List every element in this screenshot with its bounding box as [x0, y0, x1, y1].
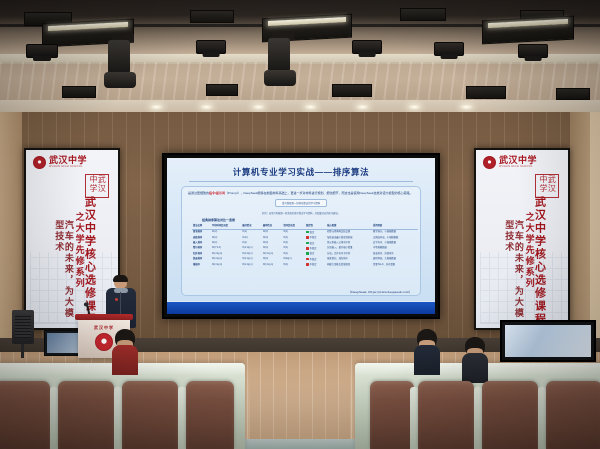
stage-light-fixture	[332, 84, 372, 97]
main-led-screen: 计算机专业学习实战——排序算法 是通过更细致的指令/提示词（Prompt），De…	[162, 153, 440, 319]
status-dot-unstable	[306, 263, 309, 266]
prompt-chip: 请为我规划一份排序算法的学习资料	[275, 199, 327, 207]
ceiling-downlight	[150, 104, 163, 110]
source-citation: （DeepSeek, https://www.deepseek.com）	[348, 290, 412, 294]
seat-divider	[538, 387, 546, 449]
assistant-note: 好的！这里为你梳理一份系统的排序算法学习资料，并配套对应的练习建议。	[188, 211, 414, 215]
cell-best: O(n log n)	[241, 262, 262, 267]
par-can-light	[352, 40, 382, 54]
par-can-light	[26, 44, 58, 58]
windows-taskbar[interactable]	[167, 301, 435, 314]
school-logo-en: WUHAN HIGH SCHOOL	[499, 166, 537, 169]
stability-label: 不稳定	[310, 248, 317, 250]
ceiling-downlight	[252, 104, 265, 110]
presenter-badge	[115, 298, 118, 301]
stability-label: 不稳定	[310, 237, 317, 239]
seat-divider	[410, 387, 418, 449]
ceiling-downlight	[460, 104, 473, 110]
ceiling-downlight	[304, 104, 317, 110]
moving-head-light	[108, 40, 130, 74]
slide-paragraph: 是通过更细致的指令/提示词（Prompt），DeepSeek能够在前面材料基础上…	[188, 191, 414, 196]
algorithm-comparison-table: 算法名称 平均时间复杂度 最好情况 最坏情况 空间复杂度 稳定性 核心思想 适用…	[192, 224, 418, 267]
audience-member	[414, 329, 440, 373]
school-logo-en: WUHAN HIGH SCHOOL	[49, 166, 87, 169]
par-can-light	[518, 44, 548, 58]
school-seal-icon	[33, 156, 46, 169]
cell-idea: 构建大顶堆反复取堆顶	[326, 262, 372, 267]
paragraph-after: （Prompt），DeepSeek能够在前面材料基础上，更进一步对材料进行规划、…	[225, 191, 413, 195]
stability-label: 不稳定	[310, 259, 317, 261]
school-seal-icon	[483, 156, 496, 169]
table-caption: 经典排序算法对比一览表	[202, 218, 414, 222]
par-can-light	[434, 42, 464, 56]
school-logo-cn: 武汉中学	[499, 156, 537, 165]
audience-torso	[414, 345, 440, 375]
audience-torso	[112, 345, 138, 375]
status-dot-stable	[306, 231, 309, 234]
stage-light-fixture	[190, 10, 234, 23]
right-side-display	[500, 320, 596, 362]
auditorium-seat	[0, 381, 50, 449]
par-can-light	[196, 40, 226, 54]
auditorium-seat	[58, 381, 114, 449]
school-logo-cn: 武汉中学	[49, 156, 87, 165]
status-dot-stable	[306, 242, 309, 245]
seat-divider	[50, 387, 58, 449]
status-dot-unstable	[306, 247, 309, 250]
table-body: 冒泡排序 O(n²) O(n) O(n²) O(1) 稳定 相邻元素两两比较交换…	[192, 229, 418, 267]
auditorium-seat	[546, 381, 600, 449]
moving-head-light	[104, 72, 136, 88]
cell-algorithm: 堆排序	[192, 262, 211, 267]
prompt-chip-row: 请为我规划一份排序算法的学习资料	[188, 199, 414, 207]
cell-worst: O(n log n)	[262, 262, 283, 267]
speaker-stand	[21, 344, 24, 358]
stage-light-fixture	[400, 8, 446, 21]
right-wall-edge	[590, 112, 600, 352]
slide-title: 计算机专业学习实战——排序算法	[175, 166, 427, 178]
center-aisle	[250, 352, 350, 449]
ceiling-downlight	[356, 104, 369, 110]
presenter-hair	[113, 275, 128, 282]
table-row: 堆排序 O(n log n) O(n log n) O(n log n) O(1…	[192, 262, 418, 267]
cell-avg: O(n log n)	[211, 262, 241, 267]
lectern-school-seal-icon	[95, 333, 113, 351]
audience-member	[462, 337, 488, 381]
stability-label: 稳定	[310, 232, 315, 234]
moving-head-light	[264, 70, 296, 86]
status-dot-unstable	[306, 236, 309, 239]
paragraph-before: 是通过更细致的	[188, 191, 209, 195]
audience-member	[112, 329, 138, 373]
school-logo: 武汉中学 WUHAN HIGH SCHOOL	[33, 156, 87, 169]
stability-label: 稳定	[310, 253, 315, 255]
cell-space: O(1)	[282, 262, 305, 267]
presentation-slide: 计算机专业学习实战——排序算法 是通过更细致的指令/提示词（Prompt），De…	[167, 158, 435, 301]
screen-surface: 计算机专业学习实战——排序算法 是通过更细致的指令/提示词（Prompt），De…	[167, 158, 435, 314]
seat-divider	[114, 387, 122, 449]
audience-torso	[462, 353, 488, 383]
auditorium-seat	[418, 381, 474, 449]
cell-stability: 不稳定	[305, 262, 326, 267]
auditorium-seat	[370, 381, 414, 449]
auditorium-seat	[122, 381, 178, 449]
seat-divider	[474, 387, 482, 449]
paragraph-highlight: 指令/提示词	[209, 191, 225, 195]
banner-watermark-illustration	[480, 252, 568, 324]
title-underline	[189, 181, 413, 182]
school-logo: 武汉中学 WUHAN HIGH SCHOOL	[483, 156, 537, 169]
stability-label: 稳定	[310, 242, 315, 244]
floor-loudspeaker	[12, 310, 34, 344]
auditorium-seat	[186, 381, 234, 449]
moving-head-light	[268, 38, 290, 72]
stage-light-fixture	[62, 86, 96, 98]
stage-light-fixture	[556, 88, 590, 100]
lecture-hall-photo: 武汉中学 WUHAN HIGH SCHOOL 武汉中学 武汉中学核心选修课程 之…	[0, 0, 600, 449]
ceiling-downlight	[408, 104, 421, 110]
stage-light-fixture	[466, 86, 506, 99]
stability-label: 不稳定	[310, 264, 317, 266]
status-dot-unstable	[306, 258, 309, 261]
right-banner-panel: 武汉中学 WUHAN HIGH SCHOOL 武汉中学 武汉中学核心选修课程 之…	[474, 148, 570, 330]
status-dot-stable	[306, 252, 309, 255]
cell-scene: 需要Top-K、内存受限	[372, 262, 418, 267]
ceiling-downlight	[200, 104, 213, 110]
auditorium-seat	[482, 381, 538, 449]
slide-content-card: 是通过更细致的指令/提示词（Prompt），DeepSeek能够在前面材料基础上…	[181, 186, 421, 296]
lectern-top-band	[75, 314, 133, 320]
seat-divider	[178, 387, 186, 449]
stage-light-fixture	[206, 84, 238, 96]
